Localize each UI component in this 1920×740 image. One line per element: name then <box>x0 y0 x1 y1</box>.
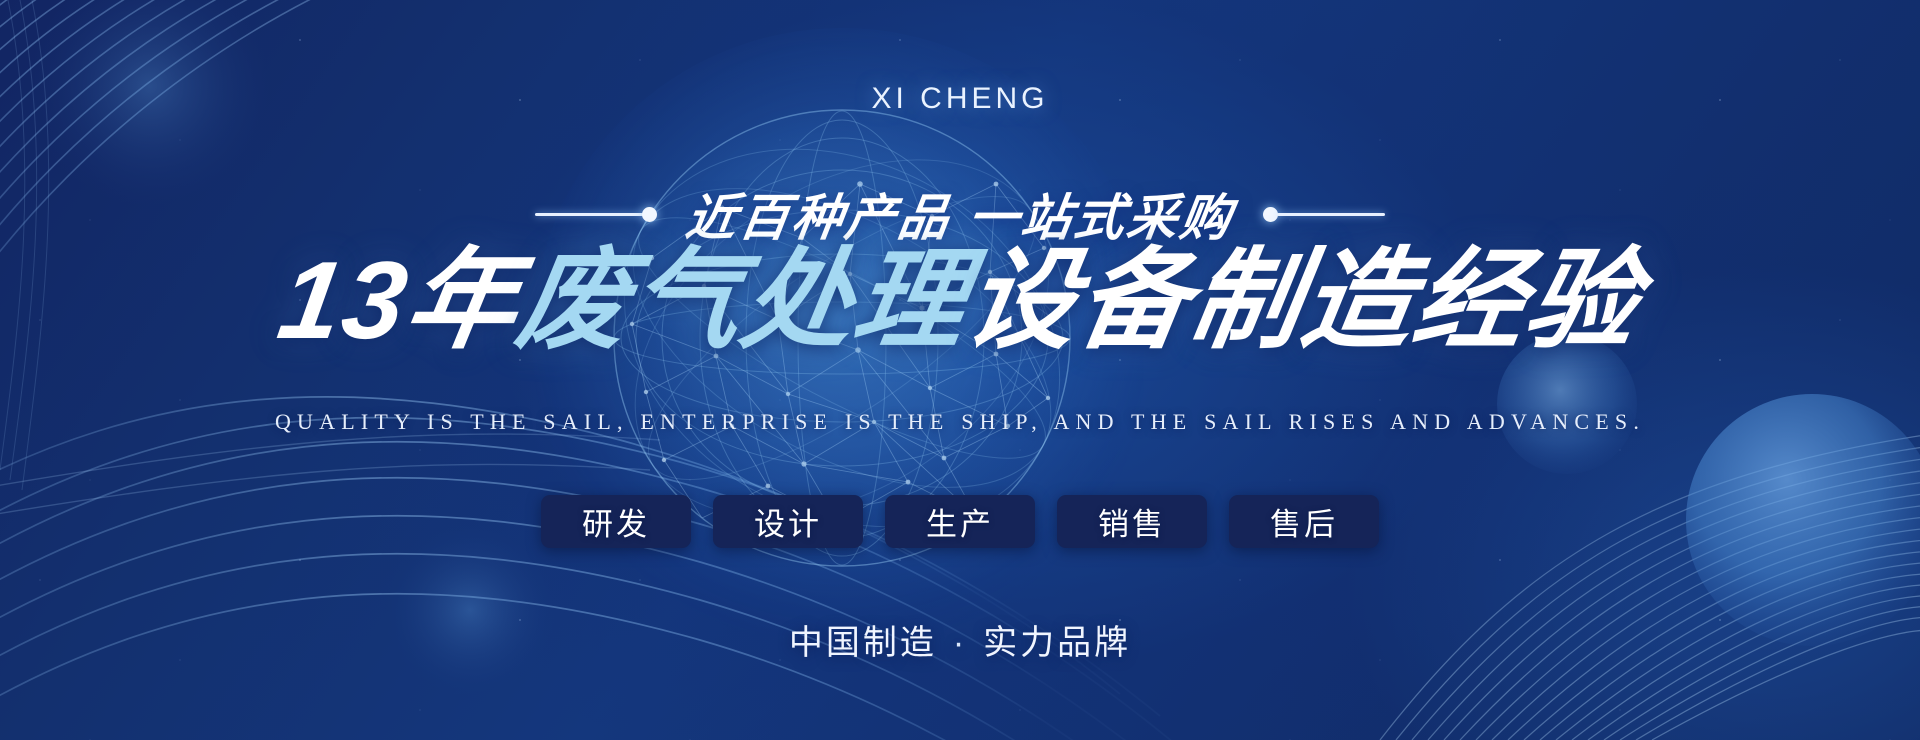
pill-label: 销售 <box>1098 499 1166 544</box>
decor-line-right <box>1263 207 1385 222</box>
english-tagline: QUALITY IS THE SAIL, ENTERPRISE IS THE S… <box>0 409 1920 435</box>
pill-rd[interactable]: 研发 <box>541 495 691 548</box>
decor-bar-right <box>1277 213 1385 216</box>
pill-label: 生产 <box>926 499 994 544</box>
footer-left-text: 中国制造 <box>789 624 937 662</box>
headline-part-highlight: 废气处理 <box>509 239 976 362</box>
pill-sales[interactable]: 销售 <box>1057 495 1207 548</box>
service-pill-row: 研发 设计 生产 销售 售后 <box>0 495 1920 548</box>
headline-part-years: 13年 <box>271 239 529 362</box>
pill-label: 研发 <box>582 499 650 544</box>
footer-right-text: 实力品牌 <box>983 624 1131 662</box>
headline-part-tail: 设备制造经验 <box>957 239 1648 362</box>
footer-slogan: 中国制造·实力品牌 <box>0 615 1920 664</box>
decor-line-left <box>535 207 657 222</box>
promo-banner: XI CHENG 近百种产品 一站式采购 13年废气处理设备制造经验 QUALI… <box>0 0 1920 740</box>
brand-name-en: XI CHENG <box>0 82 1920 116</box>
decor-dot-left <box>642 207 657 222</box>
decor-dot-right <box>1263 207 1278 222</box>
headline: 13年废气处理设备制造经验 <box>0 236 1920 366</box>
footer-separator: · <box>937 624 983 662</box>
pill-design[interactable]: 设计 <box>713 495 863 548</box>
pill-production[interactable]: 生产 <box>885 495 1035 548</box>
pill-after-sales[interactable]: 售后 <box>1229 495 1379 548</box>
pill-label: 设计 <box>754 499 822 544</box>
decor-bar-left <box>535 213 643 216</box>
banner-content: XI CHENG 近百种产品 一站式采购 13年废气处理设备制造经验 QUALI… <box>0 0 1920 740</box>
pill-label: 售后 <box>1270 499 1338 544</box>
